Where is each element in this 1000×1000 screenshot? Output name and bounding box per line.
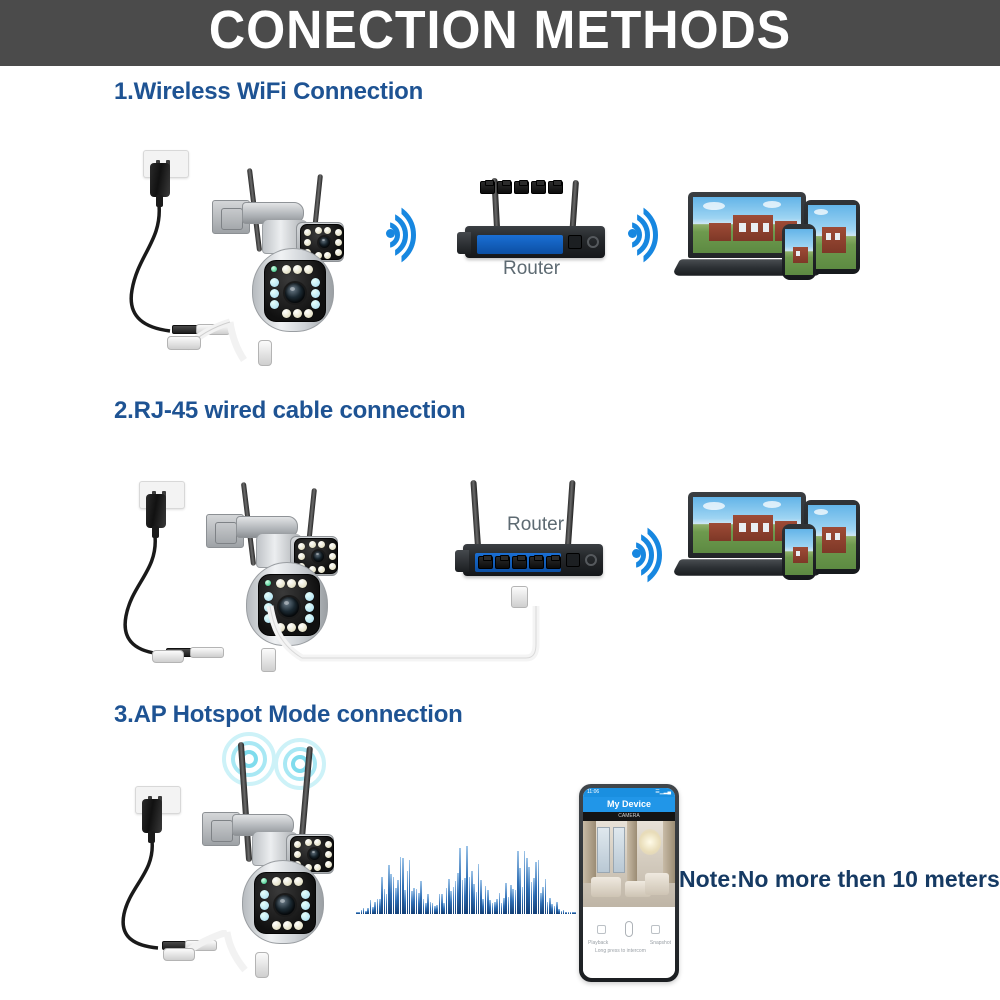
- audio-waveform-3: [356, 828, 576, 914]
- camera-main-lensface-1: [264, 260, 326, 322]
- antenna-ripple-left-3: [222, 732, 282, 792]
- bnc-connector-2: [152, 650, 184, 663]
- section-3-heading: 3.AP Hotspot Mode connection: [114, 701, 463, 729]
- intercom-hint-label: Long press to intercom: [595, 948, 646, 954]
- app-control-panel: Playback Snapshot Long press to intercom: [583, 907, 675, 975]
- section-2-heading: 2.RJ-45 wired cable connection: [114, 397, 465, 425]
- router-label-2: Router: [507, 514, 564, 536]
- router-label-1: Router: [503, 258, 560, 280]
- status-icons: ☰▁▂▄: [655, 788, 671, 797]
- app-title-bar: My Device: [583, 797, 675, 812]
- playback-icon[interactable]: [597, 925, 606, 934]
- waveform-bar: [574, 912, 576, 914]
- smartphone-app-3: 11:06 ☰▁▂▄ My Device CAMERA Playback: [579, 784, 679, 982]
- bnc-connector-3: [163, 948, 195, 961]
- wifi-signal-router-1: [628, 205, 680, 263]
- page-title: CONECTION METHODS: [35, 0, 965, 64]
- router-1: Router: [455, 178, 625, 278]
- live-video-feed[interactable]: [583, 821, 675, 907]
- status-time: 11:06: [587, 788, 599, 797]
- client-devices-1: [676, 192, 892, 284]
- security-camera-3: [202, 790, 342, 970]
- router-2: Router: [455, 478, 625, 590]
- smartphone-2: [782, 524, 816, 580]
- snapshot-icon[interactable]: [651, 925, 660, 934]
- camera-main-lensface-3: [254, 872, 316, 934]
- power-adapter-3: [142, 799, 162, 833]
- smartphone-1: [782, 224, 816, 280]
- distance-note: Note:No more then 10 meters: [679, 866, 1000, 893]
- ethernet-cable-2: [230, 600, 550, 680]
- intercom-mic-icon[interactable]: [625, 921, 633, 937]
- wifi-signal-camera-1: [386, 205, 438, 263]
- power-adapter-1: [150, 163, 170, 197]
- connection-methods-infographic: CONECTION METHODS 1.Wireless WiFi Connec…: [0, 0, 1000, 1000]
- playback-label[interactable]: Playback: [588, 940, 608, 946]
- snapshot-label[interactable]: Snapshot: [650, 940, 671, 946]
- client-devices-2: [676, 492, 892, 584]
- power-adapter-2: [146, 494, 166, 528]
- section-1-heading: 1.Wireless WiFi Connection: [114, 78, 423, 106]
- bnc-connector-1: [167, 336, 201, 350]
- app-device-id: CAMERA: [583, 812, 675, 821]
- camera-lan-pigtail-2: [261, 648, 276, 672]
- router-antenna-right-2: [564, 480, 575, 554]
- phone-status-bar: 11:06 ☰▁▂▄: [583, 788, 675, 797]
- security-camera-1: [212, 178, 352, 358]
